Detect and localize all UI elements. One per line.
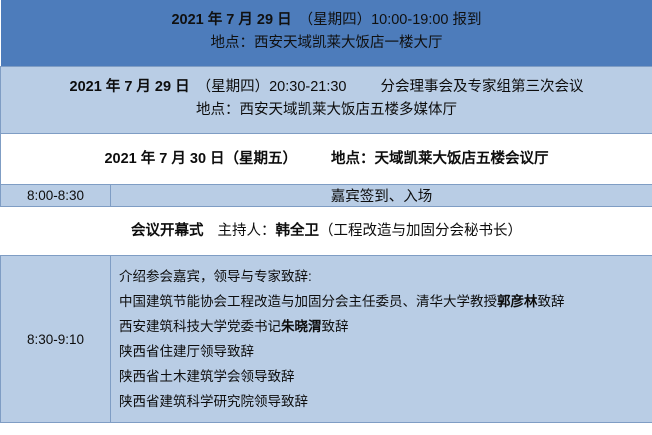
banner-line-2: 地点：西安天域凯莱大饭店一楼大厅 <box>5 32 649 55</box>
banner-line-1: 2021 年 7 月 29 日（星期四）10:00-19:00 报到 <box>5 9 649 32</box>
opening-title: 会议开幕式 <box>131 223 204 239</box>
list-item: 陕西省建筑科学研究院领导致辞 <box>119 389 646 414</box>
opening-text: 会议开幕式主持人：韩全卫（工程改造与加固分会秘书长） <box>5 220 649 242</box>
day-header-text: 2021 年 7 月 30 日（星期五）地点：天域凯莱大饭店五楼会议厅 <box>5 148 648 170</box>
list-item: 中国建筑节能协会工程改造与加固分会主任委员、清华大学教授郭彦林致辞 <box>119 289 646 314</box>
speech-prefix: 陕西省土木建筑学会领导致辞 <box>119 369 295 384</box>
list-item: 陕西省住建厅领导致辞 <box>119 339 646 364</box>
opening-host-title: （工程改造与加固分会秘书长） <box>319 223 522 239</box>
signin-time-cell: 8:00-8:30 <box>1 185 111 207</box>
opening-host-label: 主持人： <box>218 223 276 239</box>
speech-prefix: 陕西省住建厅领导致辞 <box>119 344 254 359</box>
opening-row: 会议开幕式主持人：韩全卫（工程改造与加固分会秘书长） <box>1 207 652 256</box>
notice-cell: 2021 年 7 月 29 日（星期四）20:30-21:30分会理事会及专家组… <box>1 67 652 134</box>
conference-agenda-table: 2021 年 7 月 29 日（星期四）10:00-19:00 报到 地点：西安… <box>0 0 652 423</box>
notice-row: 2021 年 7 月 29 日（星期四）20:30-21:30分会理事会及专家组… <box>1 67 652 134</box>
speeches-time-cell: 8:30-9:10 <box>1 256 111 423</box>
notice-title: 分会理事会及专家组第三次会议 <box>381 79 584 95</box>
day-header-venue: 地点：天域凯莱大饭店五楼会议厅 <box>331 151 549 167</box>
notice-line-1: 2021 年 7 月 29 日（星期四）20:30-21:30分会理事会及专家组… <box>5 76 648 99</box>
day-header-row: 2021 年 7 月 30 日（星期五）地点：天域凯莱大饭店五楼会议厅 <box>1 134 652 185</box>
list-item: 陕西省土木建筑学会领导致辞 <box>119 364 646 389</box>
notice-date-bold: 2021 年 7 月 29 日 <box>70 79 190 95</box>
speech-prefix: 西安建筑科技大学党委书记 <box>119 319 281 334</box>
speech-speaker-name: 朱晓渭 <box>281 319 322 334</box>
day-header-date: 2021 年 7 月 30 日（星期五） <box>104 151 297 167</box>
table-row: 8:00-8:30 嘉宾签到、入场 <box>1 185 652 207</box>
speech-prefix: 中国建筑节能协会工程改造与加固分会主任委员、清华大学教授 <box>119 294 497 309</box>
banner-cell: 2021 年 7 月 29 日（星期四）10:00-19:00 报到 地点：西安… <box>1 0 652 67</box>
speeches-intro: 介绍参会嘉宾，领导与专家致辞: <box>119 264 646 289</box>
speech-prefix: 陕西省建筑科学研究院领导致辞 <box>119 394 308 409</box>
notice-line-2: 地点：西安天域凯莱大饭店五楼多媒体厅 <box>5 99 648 122</box>
list-item: 西安建筑科技大学党委书记朱晓渭致辞 <box>119 314 646 339</box>
banner-row: 2021 年 7 月 29 日（星期四）10:00-19:00 报到 地点：西安… <box>1 0 652 67</box>
speech-suffix: 致辞 <box>538 294 565 309</box>
signin-content-cell: 嘉宾签到、入场 <box>111 185 652 207</box>
speech-speaker-name: 郭彦林 <box>497 294 538 309</box>
banner-date-rest: （星期四）10:00-19:00 报到 <box>299 12 482 28</box>
day-header-cell: 2021 年 7 月 30 日（星期五）地点：天域凯莱大饭店五楼会议厅 <box>1 134 652 185</box>
opening-cell: 会议开幕式主持人：韩全卫（工程改造与加固分会秘书长） <box>1 207 652 256</box>
speeches-content-cell: 介绍参会嘉宾，领导与专家致辞: 中国建筑节能协会工程改造与加固分会主任委员、清华… <box>111 256 652 423</box>
notice-time: （星期四）20:30-21:30 <box>197 79 347 95</box>
speech-suffix: 致辞 <box>322 319 349 334</box>
table-row: 8:30-9:10 介绍参会嘉宾，领导与专家致辞: 中国建筑节能协会工程改造与加… <box>1 256 652 423</box>
banner-date-bold: 2021 年 7 月 29 日 <box>171 12 291 28</box>
opening-host-name: 韩全卫 <box>276 223 320 239</box>
